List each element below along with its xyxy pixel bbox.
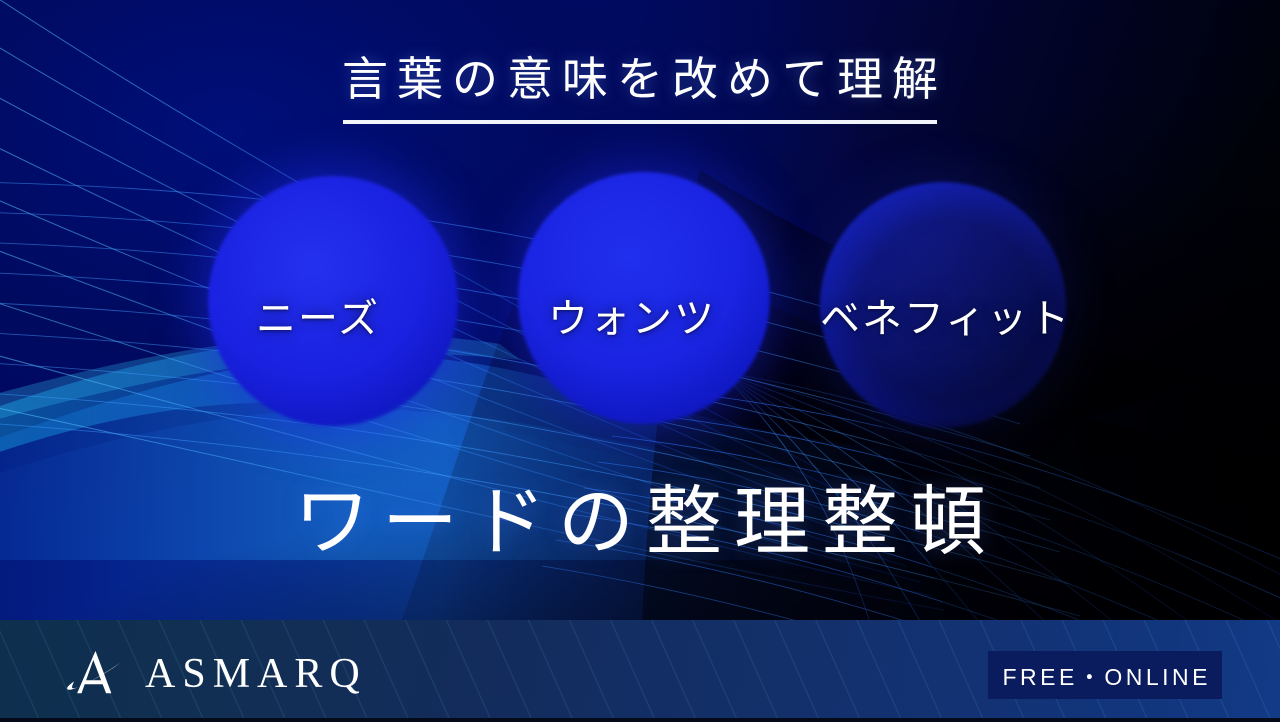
brand-lockup[interactable]: ASMARQ	[66, 648, 367, 700]
brand-name: ASMARQ	[138, 653, 367, 695]
footer-bottom-rule	[0, 718, 1280, 722]
main-headline: ワードの整理整頓	[0, 482, 1280, 564]
concept-label-needs: ニーズ	[256, 286, 380, 344]
eyebrow-title: 言葉の意味を改めて理解	[333, 52, 947, 106]
free-online-badge[interactable]: FREE・ONLINE	[988, 651, 1222, 699]
banner-canvas: 言葉の意味を改めて理解 ニーズ ウォンツ ベネフィット ワードの整理整頓 ASM…	[0, 0, 1280, 722]
asmarq-a-swoosh-icon	[66, 648, 124, 700]
eyebrow-underline	[343, 120, 937, 124]
concept-label-wants: ウォンツ	[548, 286, 716, 344]
eyebrow-title-block: 言葉の意味を改めて理解	[0, 52, 1280, 124]
concept-label-benefit: ベネフィット	[820, 286, 1071, 344]
free-online-badge-label: FREE・ONLINE	[999, 658, 1211, 692]
